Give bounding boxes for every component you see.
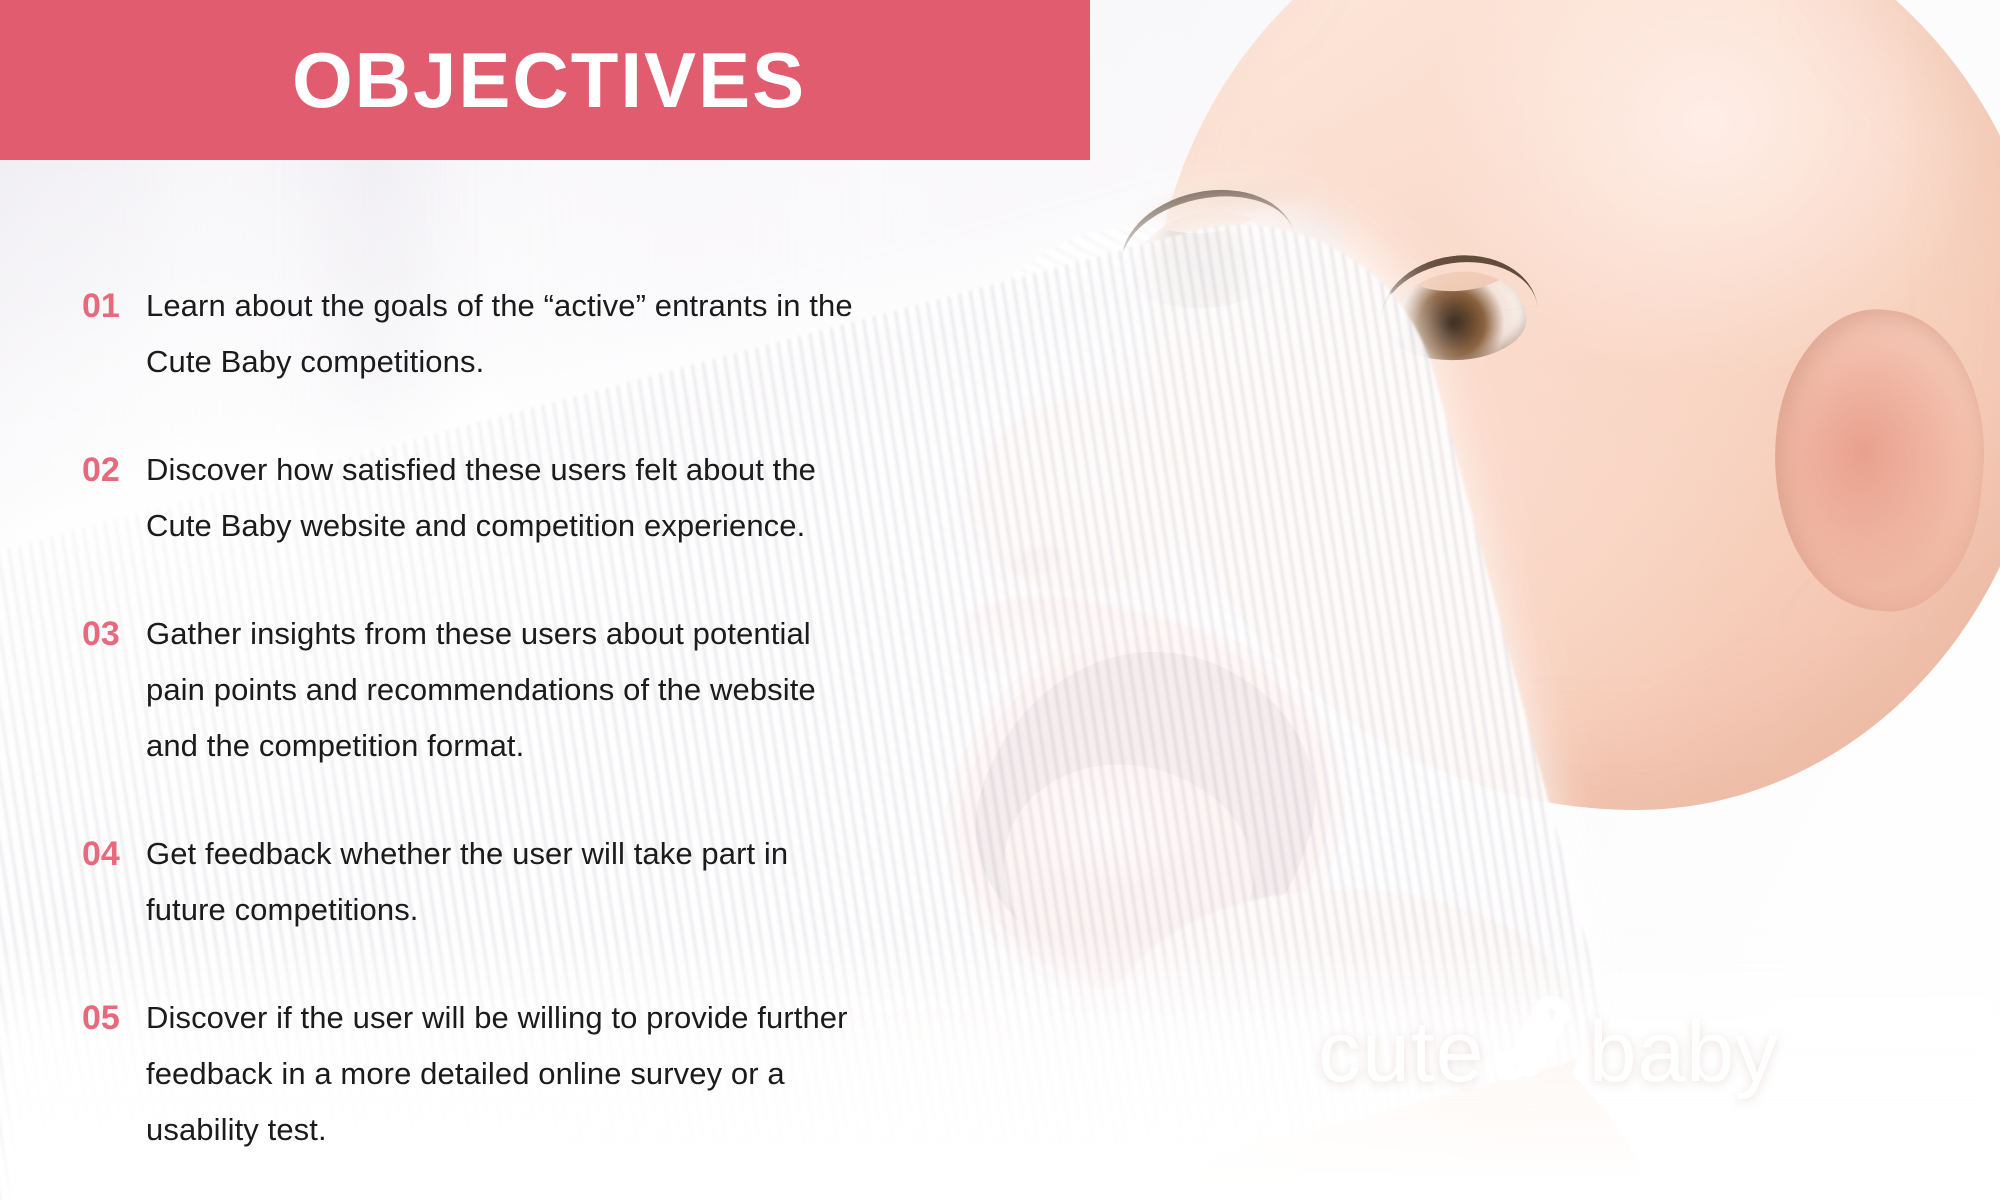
objective-text: Learn about the goals of the “active” en… xyxy=(146,278,853,390)
list-item: 04 Get feedback whether the user will ta… xyxy=(82,826,1092,938)
objective-number: 01 xyxy=(82,278,146,334)
page-title: OBJECTIVES xyxy=(292,41,806,119)
objective-number: 05 xyxy=(82,990,146,1046)
objective-text: Get feedback whether the user will take … xyxy=(146,826,788,938)
objective-number: 02 xyxy=(82,442,146,498)
objective-text: Discover how satisfied these users felt … xyxy=(146,442,816,554)
objective-text: Discover if the user will be willing to … xyxy=(146,990,848,1158)
list-item: 03 Gather insights from these users abou… xyxy=(82,606,1092,774)
objective-number: 03 xyxy=(82,606,146,662)
list-item: 01 Learn about the goals of the “active”… xyxy=(82,278,1092,390)
brand-logo: cute baby xyxy=(1318,1000,1779,1104)
objective-number: 04 xyxy=(82,826,146,882)
slide: OBJECTIVES 01 Learn about the goals of t… xyxy=(0,0,2000,1200)
safety-pin-icon xyxy=(1491,990,1583,1094)
list-item: 05 Discover if the user will be willing … xyxy=(82,990,1092,1158)
objectives-list: 01 Learn about the goals of the “active”… xyxy=(82,278,1092,1158)
list-item: 02 Discover how satisfied these users fe… xyxy=(82,442,1092,554)
logo-word-baby: baby xyxy=(1589,1009,1780,1095)
objective-text: Gather insights from these users about p… xyxy=(146,606,816,774)
logo-word-cute: cute xyxy=(1318,1009,1485,1095)
title-banner: OBJECTIVES xyxy=(0,0,1090,160)
